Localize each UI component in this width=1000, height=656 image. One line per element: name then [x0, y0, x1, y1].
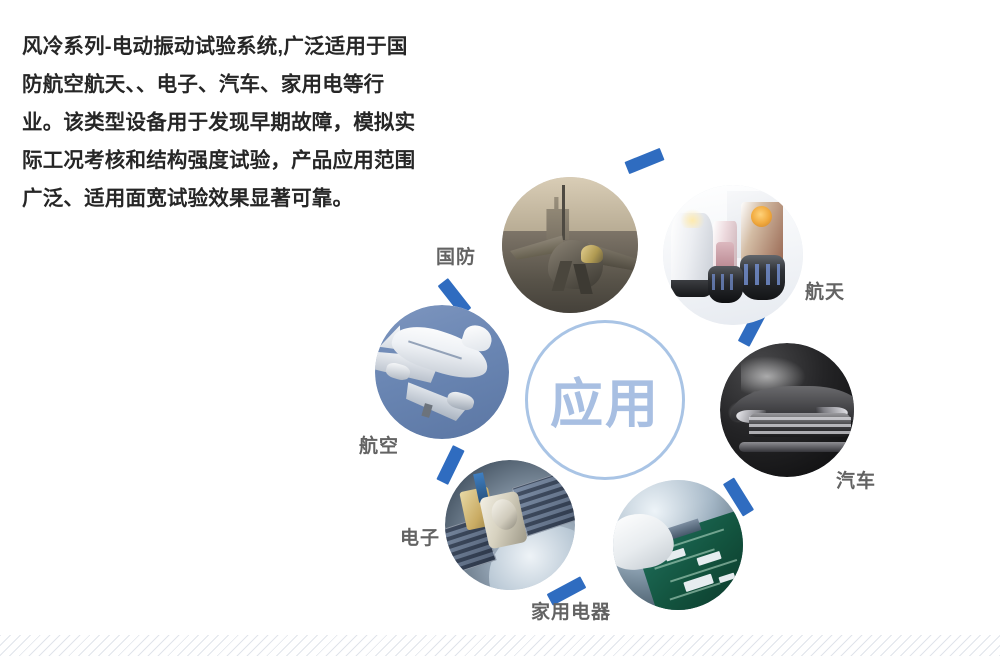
node-defense[interactable] — [502, 177, 638, 313]
node-label-defense: 国防 — [436, 242, 476, 269]
bottom-hatch-strip — [0, 635, 1000, 656]
application-diagram: 应用 国防 — [360, 160, 920, 630]
node-label-electro: 电子 — [400, 523, 440, 550]
node-auto[interactable] — [720, 343, 854, 477]
node-label-aerospace: 航天 — [805, 277, 845, 304]
appliance-photo — [613, 480, 743, 610]
page-root: 风冷系列-电动振动试验系统,广泛适用于国防航空航天、、电子、汽车、家用电等行业。… — [0, 0, 1000, 656]
node-appliance[interactable] — [613, 480, 743, 610]
node-label-auto: 汽车 — [836, 466, 876, 493]
node-aerospace[interactable] — [663, 185, 803, 325]
electro-photo — [445, 460, 575, 590]
node-label-aviation: 航空 — [359, 431, 399, 458]
aerospace-photo — [663, 185, 803, 325]
defense-photo — [502, 177, 638, 313]
node-electro[interactable] — [445, 460, 575, 590]
aviation-photo — [375, 305, 509, 439]
auto-photo — [720, 343, 854, 477]
connector-dash-6 — [436, 445, 464, 485]
node-label-appliance: 家用电器 — [531, 597, 611, 624]
center-label: 应用 — [525, 320, 685, 480]
connector-dash-2 — [624, 148, 664, 174]
node-aviation[interactable] — [375, 305, 509, 439]
